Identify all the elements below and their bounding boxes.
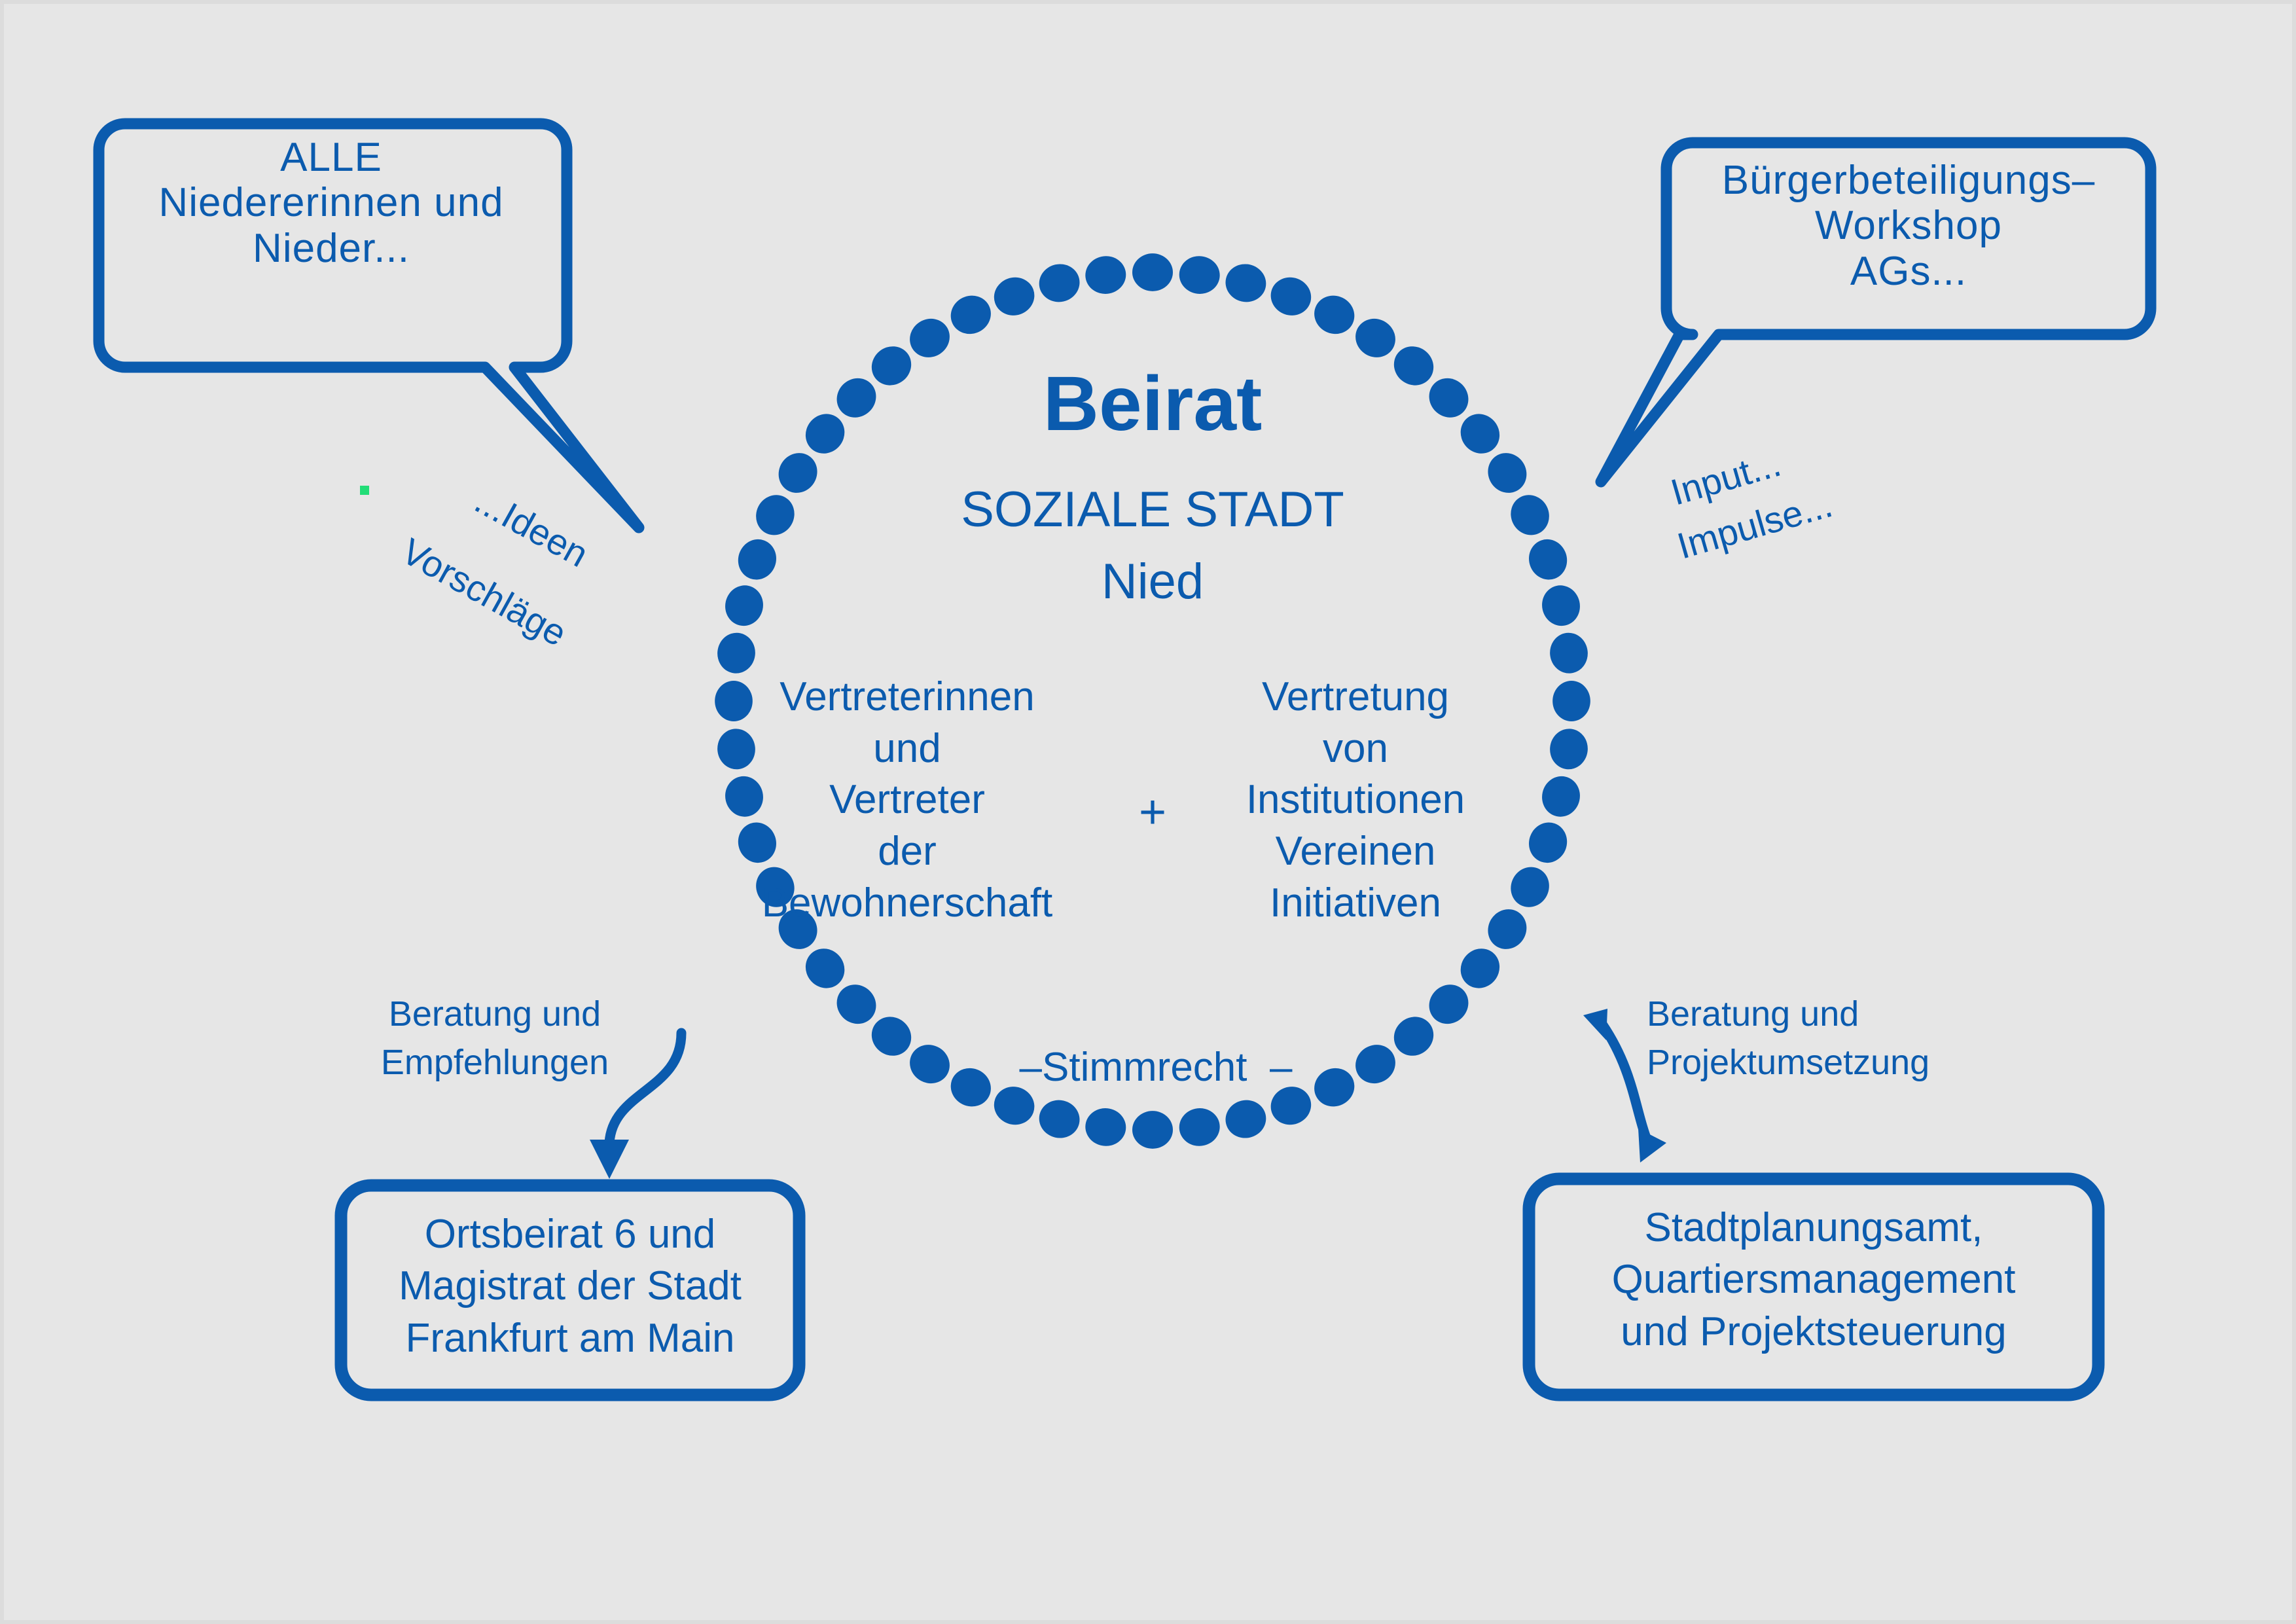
ring-dot <box>903 1038 957 1091</box>
ring-dot <box>1504 488 1556 541</box>
diagram-canvas: ALLE Niedererinnen und Nieder... Bürgerb… <box>0 0 2296 1624</box>
ring-dot <box>1177 254 1222 296</box>
stadtplanungsamt-box-text: Stadtplanungsamt, Quartiersmanagement un… <box>1532 1202 2095 1358</box>
ring-dot <box>1266 272 1317 321</box>
ring-dot <box>1035 1096 1083 1142</box>
buergerbeteiligung-bubble-text: Bürgerbeteiligungs– Workshop AGs... <box>1670 158 2147 294</box>
center-title: Beirat <box>910 361 1395 447</box>
annotation-beratung-empfehlungen-line1: Beratung und <box>344 994 645 1034</box>
ring-dot <box>1132 1111 1173 1149</box>
ring-dot <box>1222 1096 1270 1142</box>
ring-dot <box>1538 772 1584 820</box>
ring-dot <box>1083 254 1128 296</box>
ring-dot <box>1083 1106 1128 1148</box>
ring-dot <box>732 534 781 585</box>
center-subtitle-line2: Nied <box>910 554 1395 609</box>
green-artifact-marker <box>360 486 369 495</box>
center-subtitle-line1: SOZIALE STADT <box>910 482 1395 537</box>
ring-dot <box>1132 253 1173 291</box>
center-right-column: Vertretung von Institutionen Vereinen In… <box>1172 672 1539 929</box>
ring-dot <box>1308 289 1361 340</box>
ring-dot <box>749 488 801 541</box>
ring-dot <box>798 406 853 461</box>
ring-dot <box>1548 631 1590 676</box>
ring-dot <box>1524 534 1573 585</box>
ring-dot <box>1348 312 1403 365</box>
annotation-beratung-projektumsetzung-line2: Projektumsetzung <box>1647 1043 2053 1082</box>
ring-dot <box>1222 260 1270 306</box>
ring-dot <box>1453 406 1508 461</box>
center-footnote-stimmrecht: –Stimmrecht – <box>953 1045 1359 1090</box>
ring-dot <box>798 941 853 996</box>
ring-dot <box>1538 582 1584 630</box>
ring-dot <box>1177 1106 1222 1148</box>
ring-dot <box>771 446 825 500</box>
ring-dot <box>1453 941 1508 996</box>
ring-dot <box>715 631 757 676</box>
ring-dot <box>903 312 957 365</box>
alle-niederinnen-bubble-text: ALLE Niedererinnen und Nieder... <box>102 135 560 271</box>
ring-dot <box>944 289 997 340</box>
ring-dot <box>1552 681 1590 721</box>
ring-dot <box>1548 727 1590 771</box>
ring-dot <box>1480 446 1534 500</box>
annotation-beratung-projektumsetzung-line1: Beratung und <box>1647 994 2013 1034</box>
ring-dot <box>721 582 767 630</box>
center-left-column: Vertreterinnen und Vertreter der Bewohne… <box>698 672 1117 929</box>
ring-dot <box>989 272 1040 321</box>
ortsbeirat-box-text: Ortsbeirat 6 und Magistrat der Stadt Fra… <box>344 1208 796 1364</box>
annotation-beratung-empfehlungen-line2: Empfehlungen <box>344 1043 645 1082</box>
ring-dot <box>1035 260 1083 306</box>
